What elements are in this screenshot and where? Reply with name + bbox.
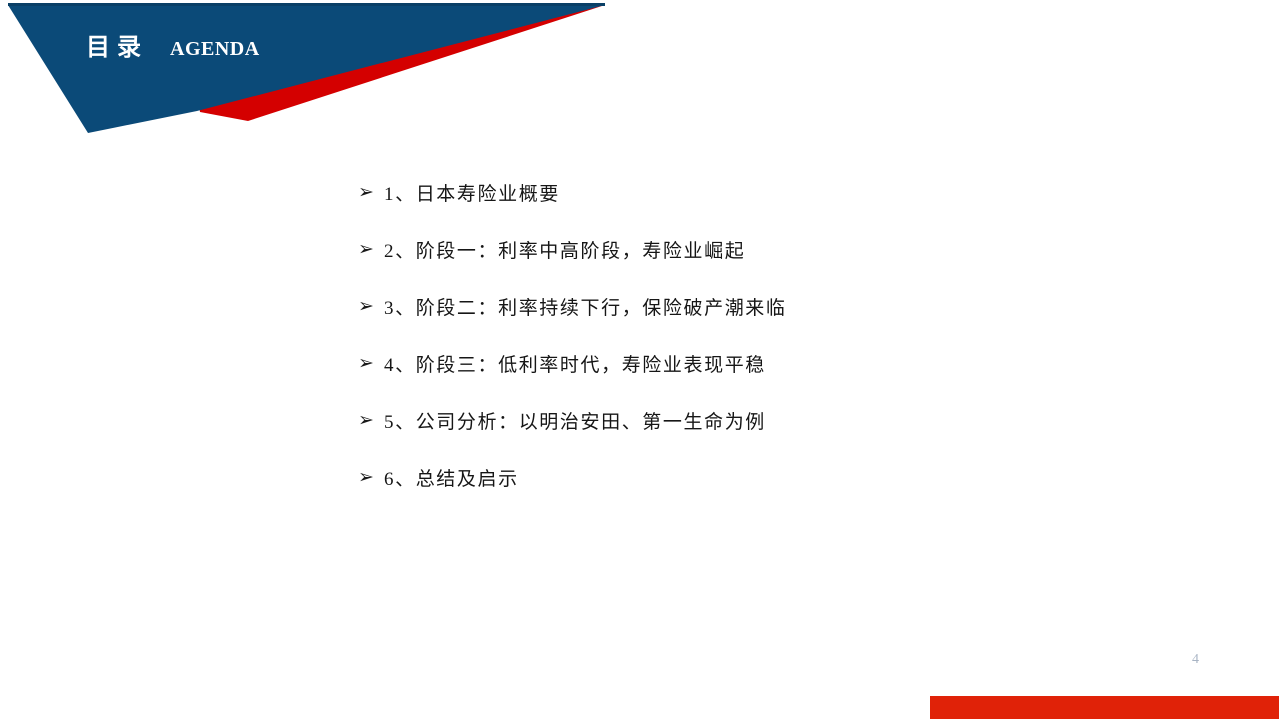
agenda-item-label: 1、日本寿险业概要 — [384, 179, 560, 206]
page-title: 目录 AGENDA — [86, 27, 260, 63]
agenda-item-4[interactable]: ➢ 4、阶段三：低利率时代，寿险业表现平稳 — [358, 335, 1118, 392]
arrow-bullet-icon: ➢ — [358, 468, 384, 487]
agenda-item-label: 6、总结及启示 — [384, 464, 519, 491]
header-banner-graphic — [0, 0, 640, 150]
agenda-item-label: 4、阶段三：低利率时代，寿险业表现平稳 — [384, 350, 766, 377]
agenda-item-3[interactable]: ➢ 3、阶段二：利率持续下行，保险破产潮来临 — [358, 278, 1118, 335]
agenda-list: ➢ 1、日本寿险业概要 ➢ 2、阶段一：利率中高阶段，寿险业崛起 ➢ 3、阶段二… — [358, 164, 1118, 506]
header-red-sliver — [196, 5, 605, 121]
page-number: 4 — [1192, 652, 1199, 668]
page-title-cn: 目录 — [86, 27, 148, 62]
arrow-bullet-icon: ➢ — [358, 297, 384, 316]
agenda-item-1[interactable]: ➢ 1、日本寿险业概要 — [358, 164, 1118, 221]
agenda-item-label: 5、公司分析：以明治安田、第一生命为例 — [384, 407, 766, 434]
slide-canvas: 目录 AGENDA ➢ 1、日本寿险业概要 ➢ 2、阶段一：利率中高阶段，寿险业… — [0, 0, 1279, 719]
page-title-en: AGENDA — [170, 38, 260, 61]
agenda-item-label: 2、阶段一：利率中高阶段，寿险业崛起 — [384, 236, 745, 263]
agenda-item-label: 3、阶段二：利率持续下行，保险破产潮来临 — [384, 293, 787, 320]
arrow-bullet-icon: ➢ — [358, 354, 384, 373]
agenda-item-6[interactable]: ➢ 6、总结及启示 — [358, 449, 1118, 506]
footer-accent-bar — [930, 696, 1279, 719]
header-top-rule — [8, 3, 605, 6]
arrow-bullet-icon: ➢ — [358, 240, 384, 259]
arrow-bullet-icon: ➢ — [358, 411, 384, 430]
agenda-item-2[interactable]: ➢ 2、阶段一：利率中高阶段，寿险业崛起 — [358, 221, 1118, 278]
header-blue-polygon — [8, 5, 605, 133]
agenda-item-5[interactable]: ➢ 5、公司分析：以明治安田、第一生命为例 — [358, 392, 1118, 449]
arrow-bullet-icon: ➢ — [358, 183, 384, 202]
